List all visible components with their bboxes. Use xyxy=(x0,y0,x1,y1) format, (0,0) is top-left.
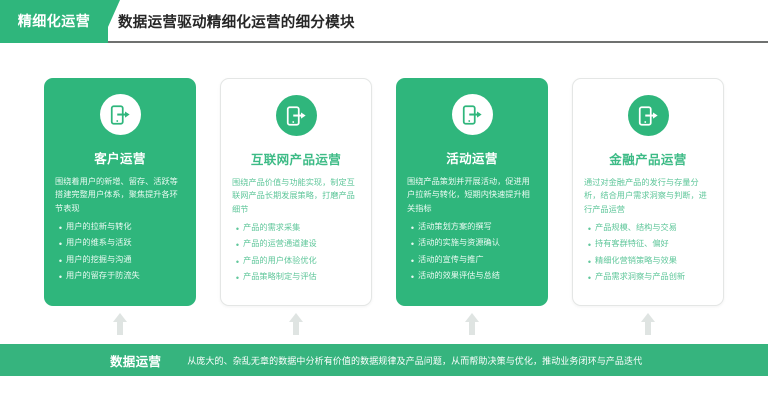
mobile-export-icon xyxy=(452,94,493,135)
list-item: •产品的用户体验优化 xyxy=(232,254,360,270)
header-divider xyxy=(0,41,768,43)
list-item: •持有客群特征、偏好 xyxy=(584,237,712,253)
header-tag-label: 精细化运营 xyxy=(18,11,91,31)
module-card-customer-operation[interactable]: 客户运营 围绕着用户的新增、留存、活跃等搭建完整用户体系，聚焦提升各环节表现 •… xyxy=(44,78,196,306)
list-item: •产品规模、结构与交易 xyxy=(584,221,712,237)
arrow-connector-row xyxy=(0,312,768,344)
page-title: 数据运营驱动精细化运营的细分模块 xyxy=(118,0,355,42)
mobile-export-icon-glyph xyxy=(285,105,307,127)
module-card-campaign-operation[interactable]: 活动运营 围绕产品策划并开展活动，促进用户拉新与转化，短期内快速提升相关指标 •… xyxy=(396,78,548,306)
arrow-slot xyxy=(220,312,372,344)
list-item: •用户的挖掘与沟通 xyxy=(55,253,185,269)
bullet-marker: • xyxy=(55,269,66,285)
mobile-export-icon xyxy=(276,95,317,136)
list-item: •用户的维系与活跃 xyxy=(55,236,185,252)
list-item: •精细化营销策略与效果 xyxy=(584,254,712,270)
list-item-label: 产品的用户体验优化 xyxy=(243,254,317,269)
bullet-marker: • xyxy=(407,236,418,252)
card-title: 互联网产品运营 xyxy=(251,149,341,168)
arrow-slot xyxy=(572,312,724,344)
slide-canvas: 精细化运营 数据运营驱动精细化运营的细分模块 客户运营 围绕着用户的新增、留存、… xyxy=(0,0,768,415)
list-item-label: 用户的留存于防流失 xyxy=(66,269,140,284)
list-item-label: 用户的拉新与转化 xyxy=(66,220,132,235)
card-description: 围绕着用户的新增、留存、活跃等搭建完整用户体系，聚焦提升各环节表现 xyxy=(55,175,185,215)
card-bullet-list: •产品规模、结构与交易 •持有客群特征、偏好 •精细化营销策略与效果 •产品需求… xyxy=(584,221,712,287)
list-item-label: 持有客群特征、偏好 xyxy=(595,237,669,252)
mobile-export-icon-glyph xyxy=(637,105,659,127)
bullet-marker: • xyxy=(55,220,66,236)
arrow-up-icon xyxy=(112,312,128,336)
list-item: •产品的运营通道建设 xyxy=(232,237,360,253)
list-item-label: 产品需求洞察与产品创新 xyxy=(595,270,685,285)
list-item: •活动策划方案的撰写 xyxy=(407,220,537,236)
bullet-marker: • xyxy=(55,253,66,269)
module-card-financial-product-operation[interactable]: 金融产品运营 通过对金融产品的发行与存量分析，结合用户需求洞察与判断，进行产品运… xyxy=(572,78,724,306)
mobile-export-icon-glyph xyxy=(109,104,131,126)
list-item-label: 活动策划方案的撰写 xyxy=(418,220,492,235)
bullet-marker: • xyxy=(407,220,418,236)
bullet-marker: • xyxy=(232,237,243,253)
card-bullet-list: •产品的需求采集 •产品的运营通道建设 •产品的用户体验优化 •产品策略制定与评… xyxy=(232,221,360,287)
card-title: 活动运营 xyxy=(446,148,498,167)
bullet-marker: • xyxy=(407,253,418,269)
module-card-internet-product-operation[interactable]: 互联网产品运营 围绕产品价值与功能实现，制定互联网产品长期发展策略，打磨产品细节… xyxy=(220,78,372,306)
mobile-export-icon xyxy=(100,94,141,135)
list-item-label: 活动的宣传与推广 xyxy=(418,253,484,268)
card-title: 金融产品运营 xyxy=(609,149,686,168)
header-accent-block: 精细化运营 xyxy=(0,0,108,42)
bullet-marker: • xyxy=(407,269,418,285)
bullet-marker: • xyxy=(232,221,243,237)
banner-tag-label: 数据运营 xyxy=(110,351,161,370)
bullet-marker: • xyxy=(232,270,243,286)
slide-header: 精细化运营 数据运营驱动精细化运营的细分模块 xyxy=(0,0,768,42)
arrow-slot xyxy=(396,312,548,344)
list-item-label: 产品规模、结构与交易 xyxy=(595,221,677,236)
card-description: 通过对金融产品的发行与存量分析，结合用户需求洞察与判断，进行产品运营 xyxy=(584,176,712,216)
list-item: •用户的留存于防流失 xyxy=(55,269,185,285)
list-item: •产品需求洞察与产品创新 xyxy=(584,270,712,286)
bullet-marker: • xyxy=(584,237,595,253)
list-item-label: 产品的需求采集 xyxy=(243,221,300,236)
card-title: 客户运营 xyxy=(94,148,146,167)
list-item-label: 产品策略制定与评估 xyxy=(243,270,317,285)
list-item-label: 用户的维系与活跃 xyxy=(66,236,132,251)
list-item: •活动的实施与资源确认 xyxy=(407,236,537,252)
module-card-list: 客户运营 围绕着用户的新增、留存、活跃等搭建完整用户体系，聚焦提升各环节表现 •… xyxy=(0,78,768,308)
arrow-up-icon xyxy=(288,312,304,336)
list-item-label: 活动的实施与资源确认 xyxy=(418,236,500,251)
list-item: •产品的需求采集 xyxy=(232,221,360,237)
bullet-marker: • xyxy=(584,270,595,286)
bullet-marker: • xyxy=(55,236,66,252)
card-description: 围绕产品策划并开展活动，促进用户拉新与转化，短期内快速提升相关指标 xyxy=(407,175,537,215)
list-item-label: 用户的挖掘与沟通 xyxy=(66,253,132,268)
mobile-export-icon xyxy=(628,95,669,136)
arrow-slot xyxy=(44,312,196,344)
bullet-marker: • xyxy=(584,254,595,270)
list-item: •活动的效果评估与总结 xyxy=(407,269,537,285)
arrow-up-icon xyxy=(640,312,656,336)
list-item-label: 活动的效果评估与总结 xyxy=(418,269,500,284)
card-bullet-list: •活动策划方案的撰写 •活动的实施与资源确认 •活动的宣传与推广 •活动的效果评… xyxy=(407,220,537,286)
list-item: •用户的拉新与转化 xyxy=(55,220,185,236)
arrow-up-icon xyxy=(464,312,480,336)
list-item-label: 精细化营销策略与效果 xyxy=(595,254,677,269)
banner-description: 从庞大的、杂乱无章的数据中分析有价值的数据规律及产品问题，从而帮助决策与优化，推… xyxy=(187,354,642,367)
card-bullet-list: •用户的拉新与转化 •用户的维系与活跃 •用户的挖掘与沟通 •用户的留存于防流失 xyxy=(55,220,185,286)
bullet-marker: • xyxy=(584,221,595,237)
data-operation-banner: 数据运营 从庞大的、杂乱无章的数据中分析有价值的数据规律及产品问题，从而帮助决策… xyxy=(0,344,768,376)
header-divider-accent xyxy=(0,41,108,43)
card-description: 围绕产品价值与功能实现，制定互联网产品长期发展策略，打磨产品细节 xyxy=(232,176,360,216)
list-item: •产品策略制定与评估 xyxy=(232,270,360,286)
list-item-label: 产品的运营通道建设 xyxy=(243,237,317,252)
mobile-export-icon-glyph xyxy=(461,104,483,126)
list-item: •活动的宣传与推广 xyxy=(407,253,537,269)
bullet-marker: • xyxy=(232,254,243,270)
